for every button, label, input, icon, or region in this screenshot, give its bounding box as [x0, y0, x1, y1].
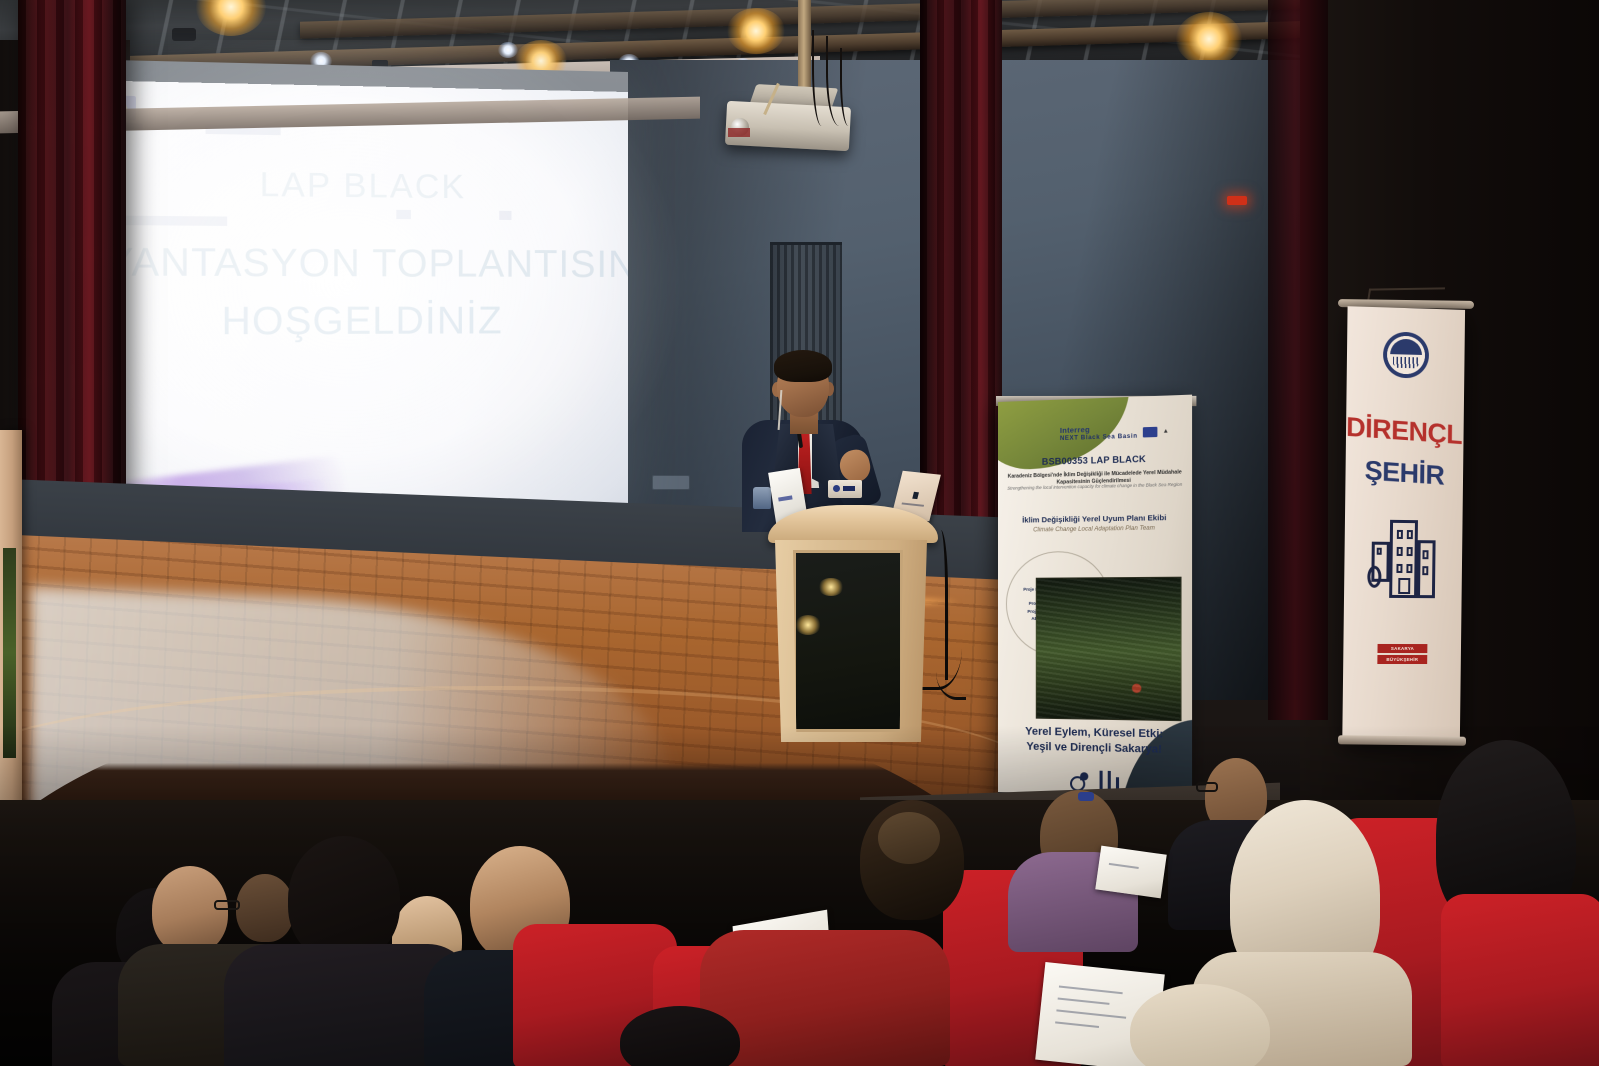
attendee-head-left-mid — [236, 874, 294, 942]
plate-text-block — [843, 486, 855, 491]
team-name-tr: İklim Değişikliği Yerel Uyum Planı Ekibi — [1002, 513, 1188, 525]
team-name-en: Climate Change Local Adaptation Plan Tea… — [1002, 525, 1188, 534]
water-bottle[interactable] — [753, 487, 771, 509]
window-1 — [1397, 530, 1403, 539]
direncli-banner-foot — [1338, 735, 1466, 746]
podium-panel-glint-2 — [795, 615, 821, 635]
sakarya-municipality-logo — [1383, 331, 1429, 378]
door-icon — [1398, 578, 1410, 594]
left-banner-photo — [3, 548, 16, 758]
plate-eu-flag-icon — [833, 485, 840, 492]
window-9 — [1377, 548, 1382, 555]
window-7 — [1422, 550, 1428, 559]
card-logo-icon — [912, 492, 919, 499]
window-5 — [1396, 564, 1402, 573]
eu-flag-icon — [1143, 427, 1158, 438]
paper-line-6 — [1056, 1009, 1126, 1018]
banner-photo — [1036, 577, 1182, 722]
seat-right-2[interactable] — [1448, 900, 1598, 1066]
paper-line-3 — [1109, 863, 1139, 869]
banner-word-sehir: ŞEHİR — [1345, 454, 1463, 493]
podium-panel-glint-1 — [818, 578, 844, 596]
paper-logo-mark — [778, 495, 792, 501]
ceiling-fixture-box — [172, 28, 196, 41]
hair-clip-icon — [1078, 792, 1094, 801]
paper-line-7 — [1055, 1021, 1099, 1028]
screen-light-wash — [85, 80, 628, 528]
attendee-paper-right[interactable] — [1095, 846, 1166, 899]
dark-display-panel[interactable] — [793, 550, 903, 732]
projection-screen[interactable]: LAP BLACK ORYANTASYON TOPLANTISINA HOŞGE… — [85, 80, 628, 528]
glasses-icon-right — [1196, 782, 1218, 792]
projector-cable-3 — [840, 48, 854, 126]
roll-up-banner-direncli-sehir: DİRENÇLİ ŞEHİR SAKARYA BÜYÜKŞEHİR — [1342, 306, 1465, 740]
projector-label — [728, 128, 750, 137]
stamp-line-1: BÜYÜKŞEHİR — [1377, 655, 1427, 664]
stage-curtain-far-right — [1268, 0, 1328, 720]
window-6 — [1406, 564, 1412, 573]
banner-word-direncli: DİRENÇLİ — [1346, 412, 1464, 452]
interreg-logo: Interreg NEXT Black Sea Basin — [1060, 425, 1138, 443]
banner-logo-row: Interreg NEXT Black Sea Basin ▲ — [1060, 417, 1188, 448]
wall-indicator-light — [1227, 196, 1247, 205]
partner-logo: ▲ — [1163, 428, 1169, 434]
banner-slogan: Yerel Eylem, Küresel Etki: Yeşil ve Dire… — [1004, 724, 1186, 758]
tree-icon — [1367, 566, 1381, 588]
logo-inner-emblem — [1390, 339, 1422, 372]
podium-name-plate — [828, 480, 862, 498]
attendee-head-red-shirt-scalp — [878, 812, 940, 864]
window-3 — [1397, 547, 1403, 556]
attendee-bald — [152, 866, 228, 954]
card-text-line — [902, 502, 925, 506]
ceiling-spot-2 — [498, 42, 518, 58]
window-4 — [1407, 547, 1413, 556]
slogan-line-2: Yeşil ve Dirençli Sakarya! — [1004, 739, 1186, 758]
ceiling-light-warm-4 — [1176, 12, 1242, 66]
paper-line-4 — [1059, 986, 1123, 995]
conference-hall-photo: LAP BLACK ORYANTASYON TOPLANTISINA HOŞGE… — [0, 0, 1599, 1066]
window-8 — [1422, 566, 1428, 575]
ceiling-light-warm-3 — [727, 8, 785, 54]
roll-up-banner-lap-black: Interreg NEXT Black Sea Basin ▲ BSB00353… — [998, 395, 1192, 844]
wall-socket — [652, 475, 690, 490]
roll-up-banner-left-edge — [0, 430, 22, 850]
stamp-line-0: SAKARYA — [1377, 644, 1427, 653]
sakarya-buyuksehir-stamp: SAKARYA BÜYÜKŞEHİR — [1377, 644, 1427, 664]
speaker-hair — [774, 350, 832, 382]
city-buildings-line-icon — [1367, 520, 1440, 605]
window-2 — [1407, 530, 1413, 539]
glasses-icon — [214, 900, 240, 910]
paper-line-5 — [1058, 997, 1110, 1004]
